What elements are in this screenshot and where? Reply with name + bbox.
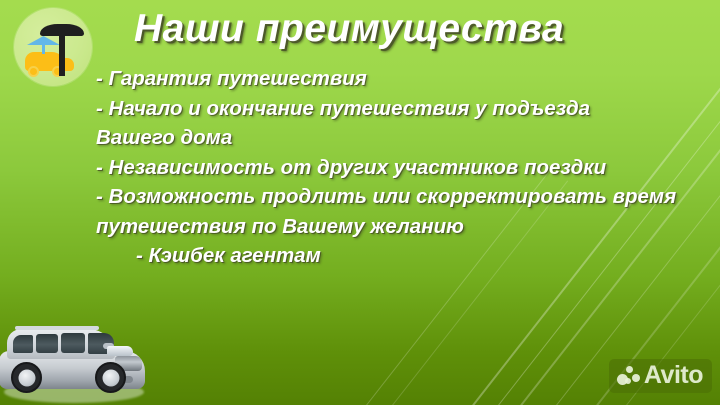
car-wheel-front <box>95 362 126 393</box>
suv-photo <box>0 293 148 405</box>
logo-car-wheel-rear-icon <box>28 66 39 77</box>
list-item: путешествия по Вашему желанию <box>96 212 702 242</box>
car-window-front <box>61 333 85 353</box>
list-item: - Кэшбек агентам <box>96 241 702 271</box>
avito-wordmark: Avito <box>644 363 703 388</box>
logo-awning-post-icon <box>42 41 45 54</box>
car-window-back <box>36 334 58 353</box>
avito-logo-icon <box>617 366 639 386</box>
car-headlight <box>107 346 133 356</box>
car-window-rear <box>13 335 33 353</box>
list-item: - Начало и окончание путешествия у подъе… <box>96 94 702 124</box>
car-roof-rail <box>15 326 99 330</box>
avito-watermark: Avito <box>609 359 712 393</box>
list-item: Вашего дома <box>96 123 702 153</box>
car-wheel-rear <box>11 362 42 393</box>
poster-canvas: Наши преимущества - Гарантия путешествия… <box>0 0 720 405</box>
logo-umbrella-stem-icon <box>59 26 65 76</box>
page-title: Наши преимущества <box>134 9 564 49</box>
list-item: - Возможность продлить или скорректирова… <box>96 182 702 212</box>
list-item: - Независимость от других участников пое… <box>96 153 702 183</box>
list-item: - Гарантия путешествия <box>96 64 702 94</box>
company-logo <box>14 8 92 86</box>
car-illustration <box>0 325 145 393</box>
advantages-list: - Гарантия путешествия - Начало и оконча… <box>96 64 702 271</box>
